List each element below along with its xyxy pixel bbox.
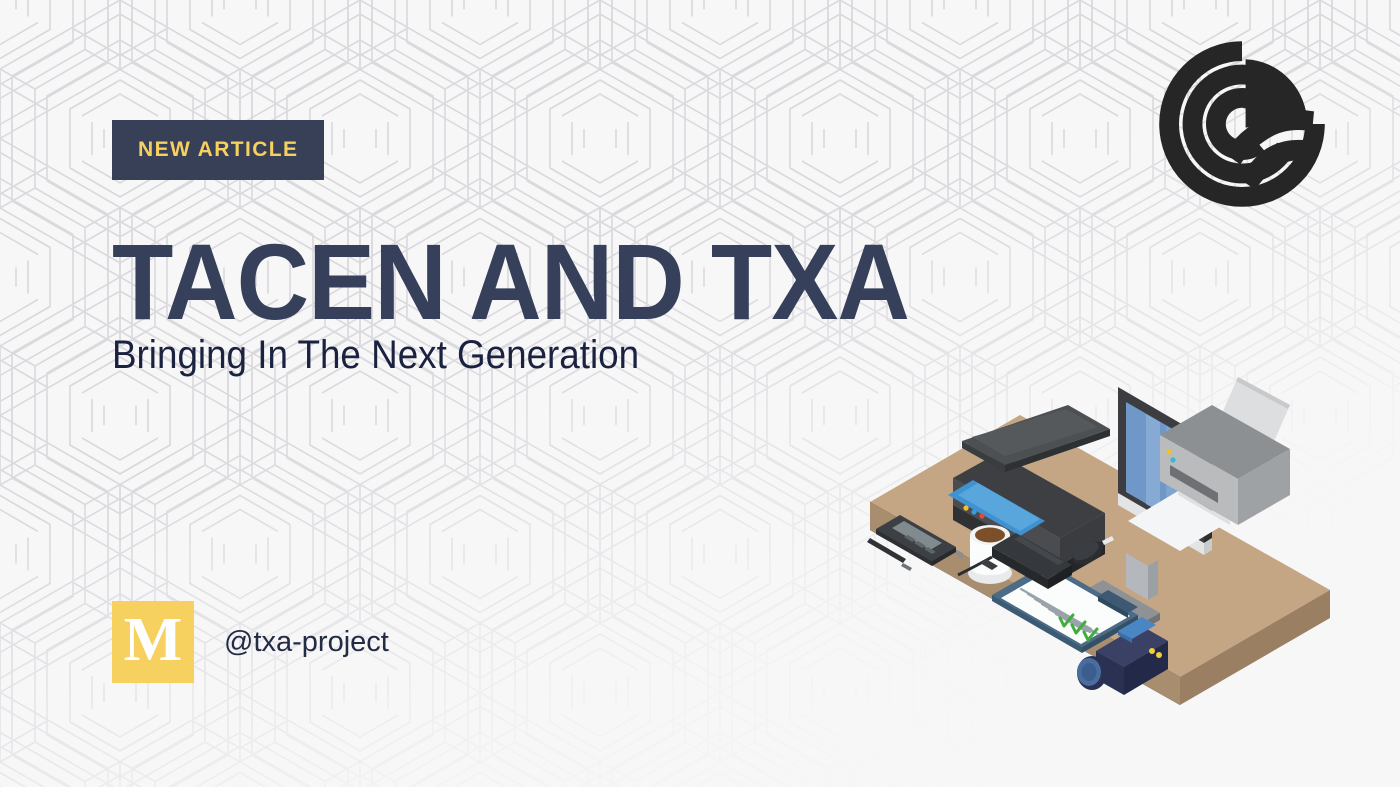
- new-article-badge: NEW ARTICLE: [112, 120, 324, 180]
- badge-label: NEW ARTICLE: [138, 138, 298, 162]
- isometric-desk-workspace-illustration: [860, 375, 1340, 745]
- author-handle-row[interactable]: M @txa-project: [112, 601, 389, 683]
- page-title: TACEN AND TXA: [112, 228, 909, 336]
- banner-canvas: NEW ARTICLE TACEN AND TXA Bringing In Th…: [0, 0, 1400, 787]
- page-subtitle: Bringing In The Next Generation: [112, 334, 639, 376]
- author-handle: @txa-project: [224, 626, 389, 659]
- tacen-circular-wave-logo-icon: [1152, 34, 1332, 214]
- medium-logo-icon[interactable]: M: [112, 601, 194, 683]
- medium-glyph: M: [124, 609, 183, 671]
